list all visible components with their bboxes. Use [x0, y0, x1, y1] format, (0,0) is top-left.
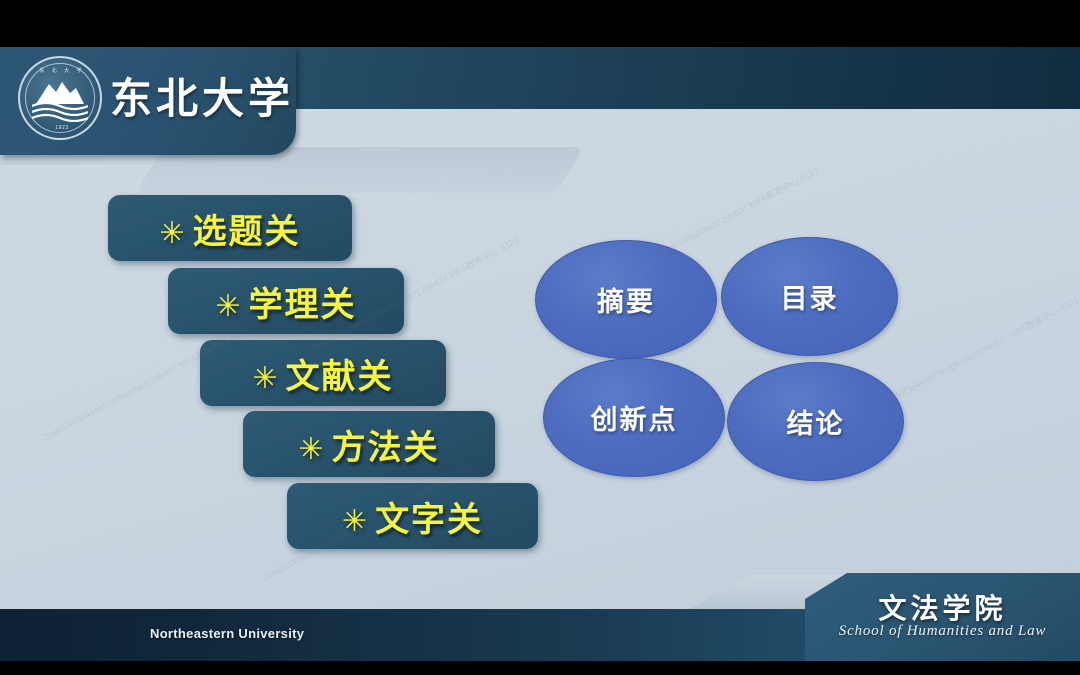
- key-point-text-4: 方法关: [332, 428, 440, 468]
- asterisk-icon: ✳: [215, 289, 242, 324]
- bubble-label-conclusion: 结论: [787, 402, 845, 441]
- footer-school-block: 文法学院 School of Humanities and Law: [805, 573, 1080, 661]
- list-item: ✳文字关: [287, 483, 538, 549]
- list-item: ✳方法关: [243, 411, 495, 477]
- asterisk-icon: ✳: [252, 361, 279, 396]
- asterisk-icon: ✳: [159, 216, 186, 251]
- key-point-text-2: 学理关: [249, 285, 357, 325]
- asterisk-icon: ✳: [342, 504, 369, 539]
- list-item: ✳选题关: [108, 195, 352, 261]
- letterbox-top-bar: [0, 0, 1080, 47]
- key-point-label-3: ✳文献关: [252, 349, 393, 398]
- bubble-label-innovation: 创新点: [591, 398, 678, 437]
- key-point-label-5: ✳文字关: [342, 492, 483, 541]
- key-point-text-1: 选题关: [193, 212, 301, 252]
- key-point-label-4: ✳方法关: [298, 420, 439, 469]
- footer-university-name-en: Northeastern University: [150, 626, 304, 641]
- list-item: ✳学理关: [168, 268, 404, 334]
- footer-school-name-en: School of Humanities and Law: [805, 623, 1080, 640]
- key-point-label-2: ✳学理关: [215, 277, 356, 326]
- slide-root: 东 北 大 学 1923 东北大学 ✳选题关: [0, 0, 1080, 675]
- key-point-text-3: 文献关: [286, 357, 394, 397]
- bubble-label-contents: 目录: [781, 277, 839, 316]
- key-point-text-5: 文字关: [375, 500, 483, 540]
- list-item: ✳文献关: [200, 340, 446, 406]
- structure-bubble-contents: 目录: [721, 237, 898, 356]
- bubble-label-abstract: 摘要: [597, 280, 655, 319]
- asterisk-icon: ✳: [298, 432, 325, 467]
- key-points-list: ✳选题关 ✳学理关 ✳文献关 ✳方法关 ✳文字关: [0, 47, 600, 467]
- footer-school-name-cn: 文法学院: [805, 587, 1080, 627]
- slide-canvas: 东 北 大 学 1923 东北大学 ✳选题关: [0, 47, 1080, 661]
- key-point-label-1: ✳选题关: [159, 204, 300, 253]
- structure-bubble-conclusion: 结论: [727, 362, 904, 481]
- letterbox-bottom-bar: [0, 661, 1080, 675]
